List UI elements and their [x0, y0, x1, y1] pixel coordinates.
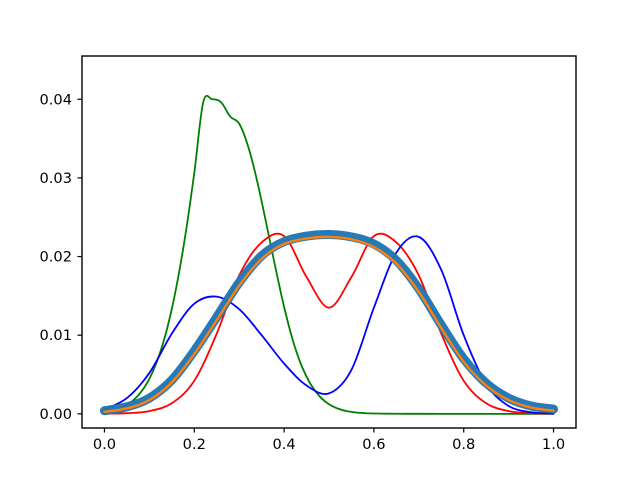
y-tick-label: 0.02 — [40, 249, 73, 266]
y-tick-label: 0.04 — [40, 91, 73, 108]
x-tick-label: 0.2 — [183, 436, 206, 453]
x-tick-label: 0.8 — [452, 436, 475, 453]
y-tick-label: 0.03 — [40, 170, 73, 187]
x-tick-label: 0.4 — [272, 436, 295, 453]
x-tick-label: 0.0 — [93, 436, 116, 453]
y-tick-label: 0.00 — [40, 406, 73, 423]
axes-background — [82, 56, 576, 428]
x-tick-label: 1.0 — [542, 436, 565, 453]
y-tick-label: 0.01 — [40, 327, 73, 344]
matplotlib-figure: 0.00.20.40.60.81.0 0.000.010.020.030.04 — [0, 0, 640, 480]
plot-canvas: 0.00.20.40.60.81.0 0.000.010.020.030.04 — [0, 0, 640, 480]
x-tick-label: 0.6 — [362, 436, 385, 453]
